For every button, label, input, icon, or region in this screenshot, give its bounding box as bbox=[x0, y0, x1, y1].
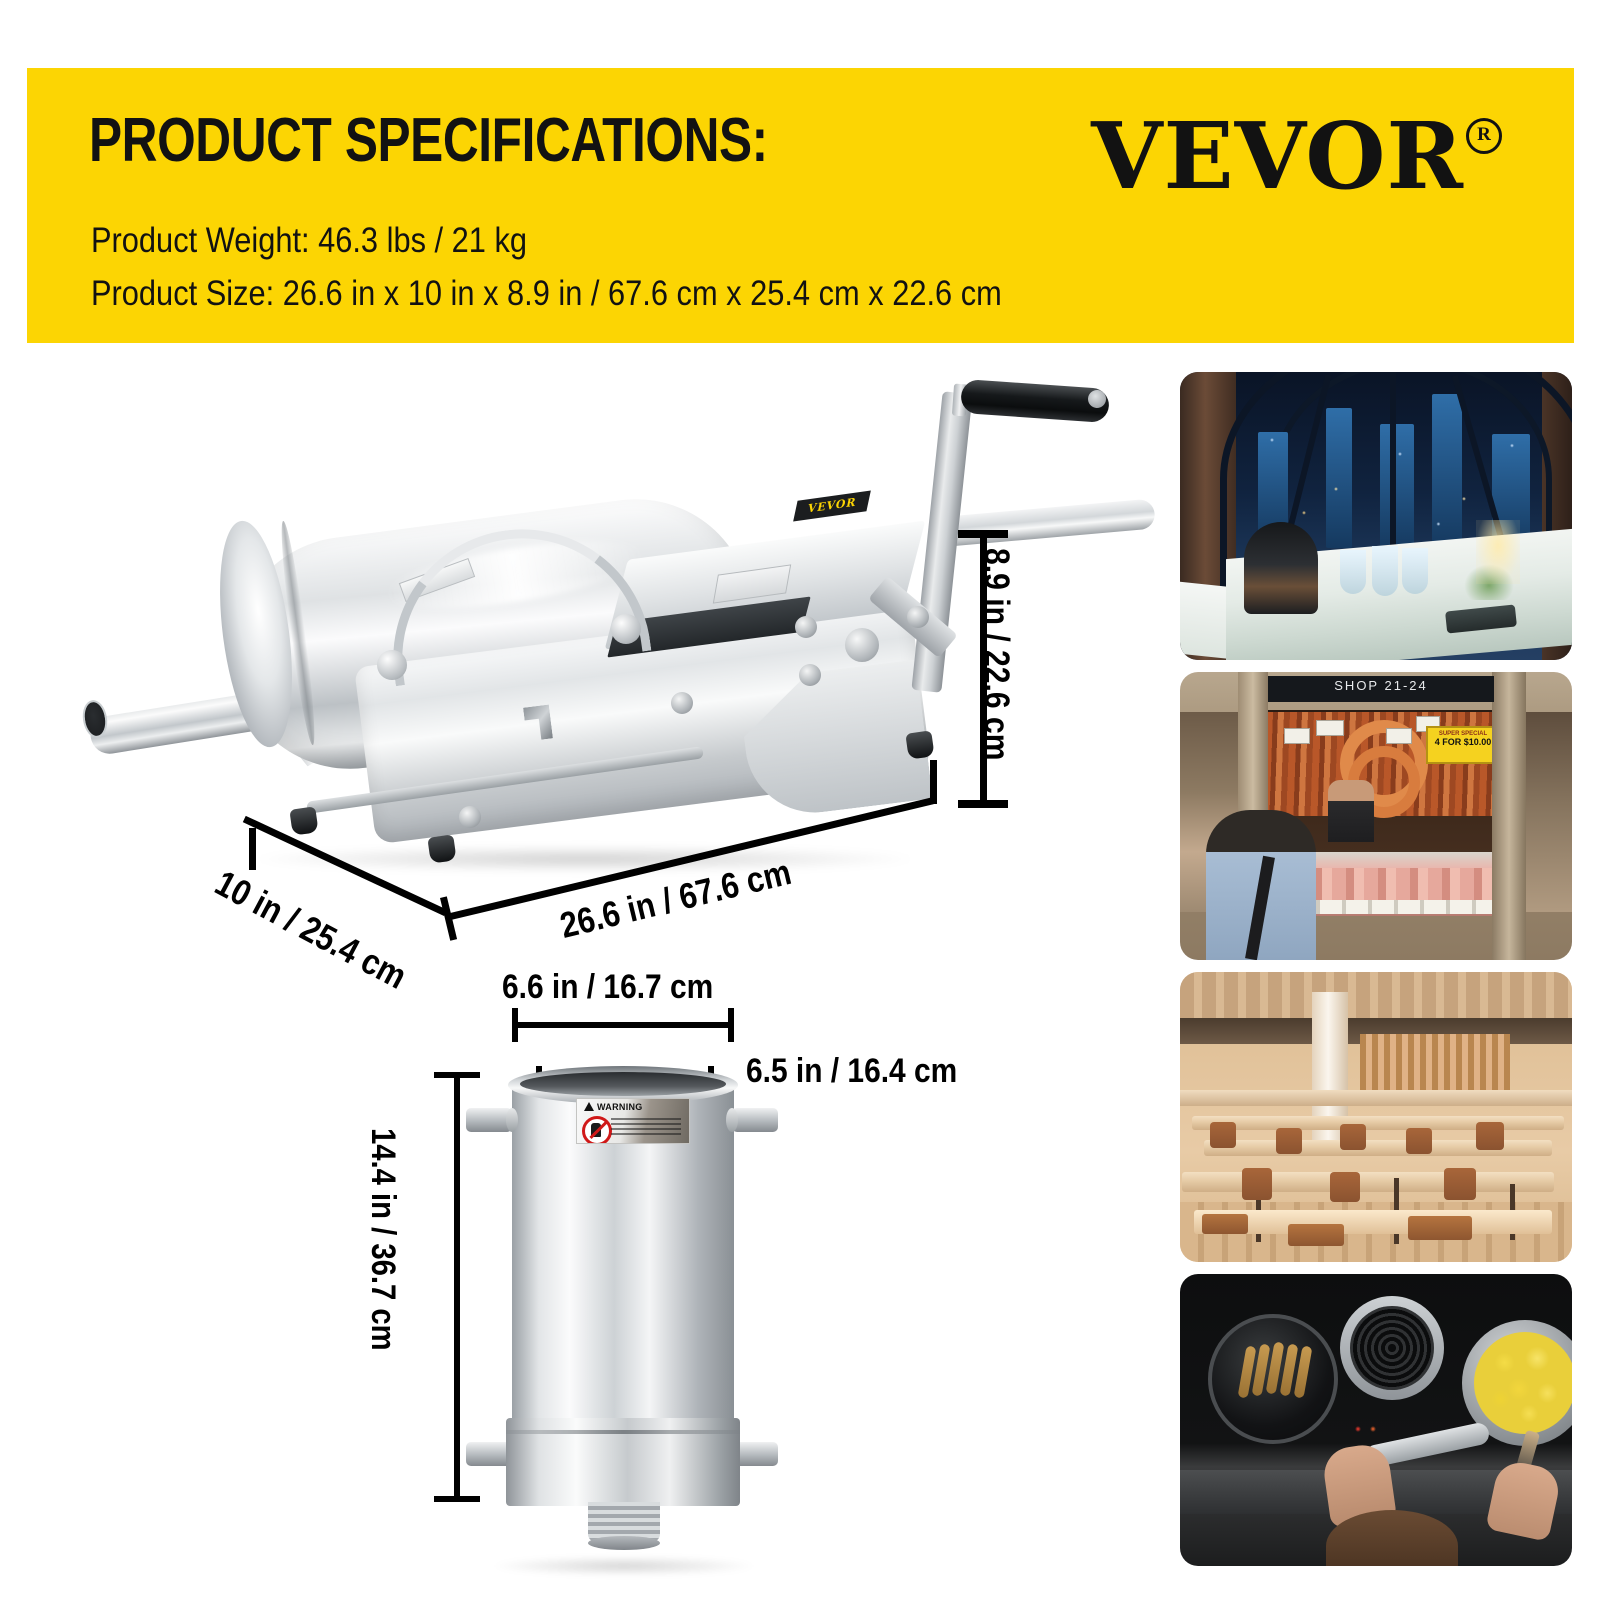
shop-vendor bbox=[1328, 780, 1374, 842]
bar-stool bbox=[1408, 1216, 1472, 1240]
thumbnail-food-court[interactable] bbox=[1180, 972, 1572, 1262]
cylinder-collar-seam bbox=[506, 1430, 740, 1434]
shop-sign-text: SHOP 21-24 bbox=[1268, 678, 1494, 693]
spec-product-size: Product Size: 26.6 in x 10 in x 8.9 in /… bbox=[91, 276, 1002, 311]
height-dimension-label: 8.9 in / 22.6 cm bbox=[976, 548, 1016, 761]
product-price-tag bbox=[1284, 728, 1310, 744]
cylinder-lug-cap bbox=[506, 1108, 518, 1132]
cooktop-indicator-lights bbox=[1352, 1426, 1382, 1432]
no-hands-prohibition-icon bbox=[582, 1116, 612, 1144]
cylinder-height-dimension-line bbox=[454, 1072, 460, 1502]
cylinder-top-opening bbox=[520, 1072, 726, 1096]
promo-sign: SUPER SPECIAL 4 FOR $10.00 bbox=[1426, 726, 1500, 764]
dining-chair bbox=[1276, 1128, 1302, 1154]
window-mullion bbox=[1390, 372, 1396, 572]
wine-glass bbox=[1402, 548, 1428, 594]
usage-scenario-gallery: SUPER SPECIAL 4 FOR $10.00 SHOP 21-24 bbox=[1180, 372, 1572, 1578]
dining-chair bbox=[1242, 1168, 1272, 1200]
dining-chair bbox=[1406, 1128, 1432, 1154]
height-dimension-cap-top bbox=[958, 530, 1008, 538]
dining-chair bbox=[1340, 1124, 1366, 1150]
thumbnail-stovetop-cooking[interactable] bbox=[1180, 1274, 1572, 1566]
product-hero-image: VEVOR bbox=[55, 370, 1095, 960]
warning-label-header: WARNING bbox=[577, 1099, 689, 1114]
storefront-pillar bbox=[1492, 672, 1526, 960]
dining-chair bbox=[1330, 1172, 1360, 1202]
housing-bolt bbox=[799, 664, 821, 686]
long-table bbox=[1192, 1116, 1564, 1130]
height-dimension-cap-bottom bbox=[958, 800, 1008, 808]
thumbnail-butcher-shop[interactable]: SUPER SPECIAL 4 FOR $10.00 SHOP 21-24 bbox=[1180, 672, 1572, 960]
rubber-foot bbox=[289, 806, 318, 835]
dining-chair bbox=[1244, 522, 1318, 614]
cylinder-height-cap-top bbox=[434, 1072, 480, 1078]
promo-price: 4 FOR $10.00 bbox=[1428, 737, 1498, 747]
support-rod bbox=[934, 498, 1156, 547]
scrambled-eggs bbox=[1474, 1332, 1572, 1434]
cylinder-outer-cap-right bbox=[728, 1008, 734, 1042]
product-price-tag bbox=[1386, 728, 1412, 744]
housing-bolt bbox=[671, 692, 693, 714]
cylinder-shadow bbox=[490, 1556, 758, 1576]
rubber-foot bbox=[905, 730, 934, 759]
candelabra bbox=[1476, 520, 1520, 584]
cylinder-outer-dimension-line bbox=[512, 1022, 734, 1028]
warning-label: WARNING bbox=[576, 1098, 690, 1144]
depth-dimension-cap bbox=[249, 828, 256, 870]
cylinder-mount-lug bbox=[732, 1108, 778, 1132]
cylinder-detail-image: 6.6 in / 16.7 cm 6.5 in / 16.4 cm 14.4 i… bbox=[420, 960, 1020, 1590]
housing-bolt bbox=[907, 606, 929, 628]
bar-stool bbox=[1288, 1224, 1344, 1246]
dining-chair bbox=[1476, 1122, 1504, 1150]
length-dimension-cap-right bbox=[930, 760, 937, 804]
bar-stool bbox=[1202, 1214, 1248, 1234]
cylinder-height-dimension-label: 14.4 in / 36.7 cm bbox=[363, 1128, 402, 1351]
wood-partition-rail bbox=[1360, 1034, 1510, 1094]
cylinder-outer-dimension-label: 6.6 in / 16.7 cm bbox=[502, 968, 713, 1007]
warning-label-body-text bbox=[611, 1118, 681, 1138]
spec-product-weight: Product Weight: 46.3 lbs / 21 kg bbox=[91, 223, 527, 258]
dining-chair bbox=[1210, 1122, 1236, 1148]
wine-glass bbox=[1340, 550, 1366, 594]
housing-bolt bbox=[795, 616, 817, 638]
housing-bolt bbox=[459, 806, 481, 828]
side-display-case bbox=[1526, 712, 1572, 912]
vevor-logo: VEVOR bbox=[1091, 110, 1464, 203]
warning-label-text: WARNING bbox=[597, 1102, 643, 1112]
vevor-wordmark: VEVOR bbox=[1091, 110, 1464, 202]
registered-trademark-icon: R bbox=[1466, 118, 1502, 154]
warning-triangle-icon bbox=[584, 1102, 594, 1111]
dining-chair bbox=[1444, 1168, 1476, 1200]
product-specifications-banner: PRODUCT SPECIFICATIONS: Product Weight: … bbox=[27, 68, 1574, 343]
cylinder-inner-dimension-label: 6.5 in / 16.4 cm bbox=[746, 1052, 957, 1091]
wine-glass bbox=[1372, 546, 1398, 596]
cooktop-burner-coil bbox=[1350, 1306, 1434, 1390]
bail-pivot-right bbox=[611, 614, 641, 644]
promo-title: SUPER SPECIAL bbox=[1428, 728, 1498, 737]
cylinder-lug-cap bbox=[726, 1108, 738, 1132]
bail-pivot-left bbox=[377, 650, 407, 680]
product-brand-badge: VEVOR bbox=[793, 490, 871, 521]
product-price-tag bbox=[1316, 720, 1344, 736]
back-counter bbox=[1180, 1090, 1572, 1106]
cylinder-outer-cap-left bbox=[512, 1008, 518, 1042]
thumbnail-fine-dining-restaurant[interactable] bbox=[1180, 372, 1572, 660]
cylinder-outlet-opening bbox=[588, 1536, 660, 1550]
crank-hub bbox=[845, 628, 879, 662]
page-title: PRODUCT SPECIFICATIONS: bbox=[89, 110, 768, 172]
cylinder-height-cap-bottom bbox=[434, 1496, 480, 1502]
long-table bbox=[1182, 1172, 1554, 1192]
